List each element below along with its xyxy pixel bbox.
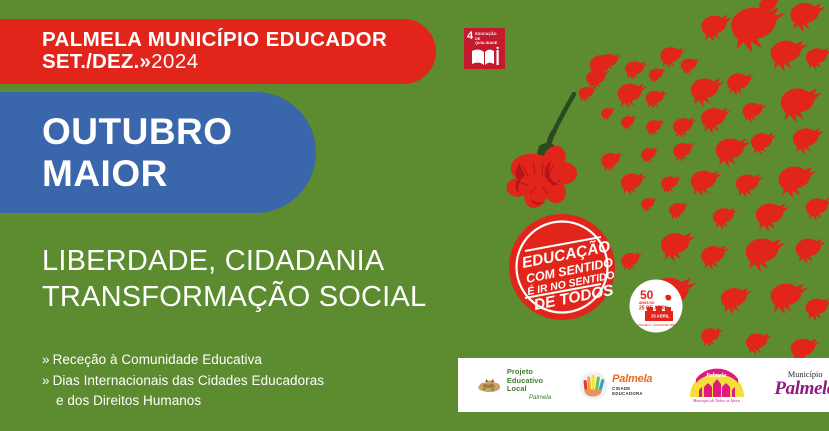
50-anos-25-abril-badge: 50 ANOS DO 25 DE ABRIL 25 ABRIL PALMELA,… — [629, 279, 683, 333]
sdg-number: 4 — [467, 31, 473, 42]
open-book-icon — [467, 47, 502, 67]
ce-line-1: Palmela — [612, 374, 656, 385]
afetos-line-2: Município de Todos os Afetos — [692, 398, 741, 403]
bullet-marker: » — [42, 373, 50, 388]
pel-line-3: Palmela — [507, 394, 551, 402]
header-banner: PALMELA MUNICÍPIO EDUCADOR SET./DEZ.»202… — [0, 19, 436, 84]
badge50-line-1: ANOS DO — [639, 301, 655, 305]
title-banner: OUTUBRO MAIOR — [0, 92, 316, 213]
ce-line-2: CIDADE EDUCADORA — [612, 386, 656, 396]
list-item-label: e dos Direitos Humanos — [56, 393, 201, 408]
pel-line-2: Educativo Local — [507, 377, 551, 395]
title-line-2: MAIOR — [42, 153, 316, 194]
sdg-label-line-2: DE QUALIDADE — [475, 36, 502, 45]
logo-municipio-todos-afetos: Palmela Município de Todos os Afetos — [686, 365, 748, 405]
palmela-castle-icon — [476, 372, 502, 398]
list-item: »Dias Internacionais das Cidades Educado… — [42, 371, 324, 392]
header-line-2: SET./DEZ.»2024 — [42, 51, 436, 74]
header-period: SET./DEZ.» — [42, 50, 151, 73]
subtitle-line-2: TRANSFORMAÇÃO SOCIAL — [42, 280, 426, 316]
badge50-tagline: 25 ABRIL — [651, 314, 670, 319]
partner-logo-bar: Projeto Educativo Local Palmela — [458, 358, 829, 412]
badge50-line-2: 25 DE ABRIL — [639, 306, 669, 312]
subtitle-line-1: LIBERDADE, CIDADANIA — [42, 244, 426, 280]
list-item-label: Dias Internacionais das Cidades Educador… — [53, 373, 325, 388]
logo-projeto-educativo-local: Projeto Educativo Local Palmela — [476, 368, 551, 403]
sdg-4-badge: 4 EDUCAÇÃO DE QUALIDADE — [464, 28, 505, 69]
educacao-com-sentido-stamp: EDUCAÇÃO COM SENTIDO É IR NO SENTIDO DE … — [508, 213, 616, 321]
badge50-subtext: PALMELA, CIDADE DE ABRIL — [638, 323, 678, 327]
logo-palmela-cidade-educadora: Palmela CIDADE EDUCADORA — [579, 369, 656, 402]
title-line-1: OUTUBRO — [42, 111, 316, 152]
carnation-flower — [507, 94, 577, 208]
event-list: »Receção à Comunidade Educativa »Dias In… — [42, 350, 324, 412]
list-item: »Receção à Comunidade Educativa — [42, 350, 324, 371]
poster-canvas: PALMELA MUNICÍPIO EDUCADOR SET./DEZ.»202… — [0, 0, 829, 431]
list-item-continuation: e dos Direitos Humanos — [42, 391, 324, 412]
list-item-label: Receção à Comunidade Educativa — [53, 352, 262, 367]
header-line-1: PALMELA MUNICÍPIO EDUCADOR — [42, 29, 436, 51]
badge50-number: 50 — [640, 288, 654, 302]
header-year: 2024 — [151, 50, 199, 73]
logo-municipio-palmela: Município Palmela — [748, 371, 829, 399]
colour-hand-icon — [579, 369, 608, 402]
mp-line-2: Palmela — [774, 379, 829, 399]
afetos-line-1: Palmela — [706, 373, 726, 379]
subtitle: LIBERDADE, CIDADANIA TRANSFORMAÇÃO SOCIA… — [42, 244, 426, 316]
bullet-marker: » — [42, 352, 50, 367]
